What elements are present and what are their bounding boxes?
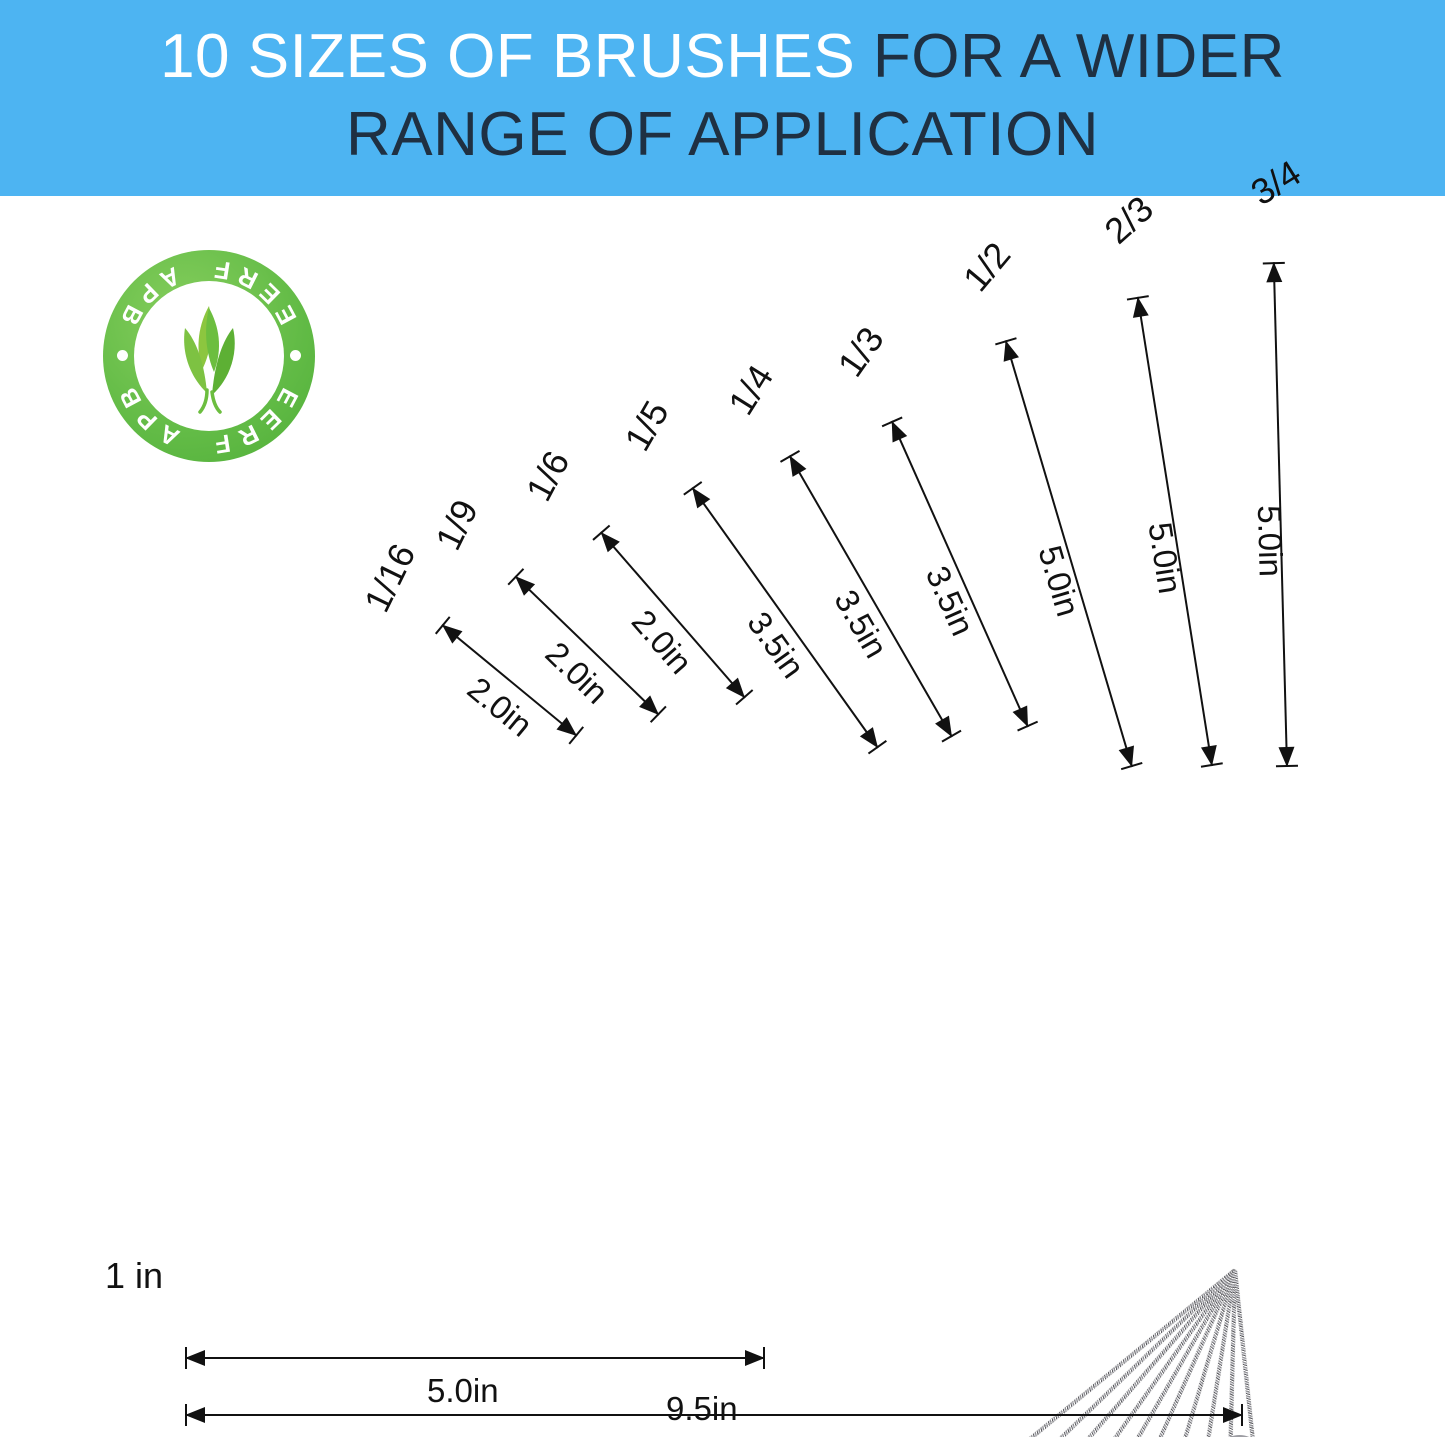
dimension-arrowhead <box>1012 706 1035 731</box>
header-rest-text: FOR A WIDER <box>855 22 1285 91</box>
dimension-arrowhead <box>783 452 807 477</box>
dimension-arrowhead <box>745 1350 765 1366</box>
dimension-arrowhead <box>1130 295 1149 317</box>
total-length-label: 9.5in <box>666 1390 738 1428</box>
bristle-length-label: 3.5in <box>739 604 811 684</box>
bristle-length-label: 5.0in <box>1140 520 1189 597</box>
dimension-arrowhead <box>1278 747 1295 767</box>
dimension-rule <box>185 1357 765 1359</box>
brush-size-label-1-16: 1/16 <box>356 537 424 618</box>
dimension-arrowhead <box>1223 1407 1243 1423</box>
bristle-length-label: 5.0in <box>1250 505 1290 578</box>
dimension-arrowhead <box>998 338 1019 362</box>
brush-size-label-1-2: 1/2 <box>954 234 1018 299</box>
brush-size-label-1-in: 1 in <box>105 1255 163 1297</box>
dimension-line-1-3 <box>892 421 1028 727</box>
brush-handle <box>1233 1270 1346 1437</box>
brush-size-label-1-6: 1/6 <box>518 444 579 508</box>
dimension-arrowhead <box>1266 262 1283 282</box>
dimension-arrowhead <box>884 418 907 443</box>
dimension-arrowhead <box>686 483 711 509</box>
brush-size-label-1-5: 1/5 <box>617 394 678 458</box>
dimension-arrowhead <box>1201 745 1220 767</box>
bristle-length-label: 2.0in <box>624 603 700 682</box>
dimension-arrowhead <box>935 716 959 741</box>
header-line-1: 10 SIZES OF BRUSHES FOR A WIDER <box>0 22 1445 92</box>
brush-size-label-1-9: 1/9 <box>428 493 488 556</box>
dimension-arrowhead <box>185 1407 205 1423</box>
brush-size-label-1-4: 1/4 <box>720 358 782 423</box>
bottom-bristle-length-label: 5.0in <box>427 1372 499 1410</box>
header-line-2: RANGE OF APPLICATION <box>0 100 1445 170</box>
dimension-arrowhead <box>185 1350 205 1366</box>
brush-size-label-1-3: 1/3 <box>830 319 893 384</box>
header-banner: 10 SIZES OF BRUSHES FOR A WIDER RANGE OF… <box>0 0 1445 196</box>
header-highlight-text: 10 SIZES OF BRUSHES <box>160 22 855 91</box>
brush-handle <box>847 1269 1237 1437</box>
bristle-length-label: 2.0in <box>460 670 539 745</box>
brush-handle <box>489 1269 1236 1437</box>
brush-size-label-2-3: 2/3 <box>1097 187 1162 252</box>
brush-fan: 2.0in1/162.0in1/92.0in1/63.5in1/53.5in1/… <box>0 196 1445 1437</box>
product-infographic: 10 SIZES OF BRUSHES FOR A WIDER RANGE OF… <box>0 0 1445 1437</box>
bristle-length-label: 5.0in <box>1031 541 1088 620</box>
dimension-rule <box>891 421 1029 728</box>
bristle-length-label: 2.0in <box>538 634 616 711</box>
dimension-arrowhead <box>1119 746 1140 770</box>
